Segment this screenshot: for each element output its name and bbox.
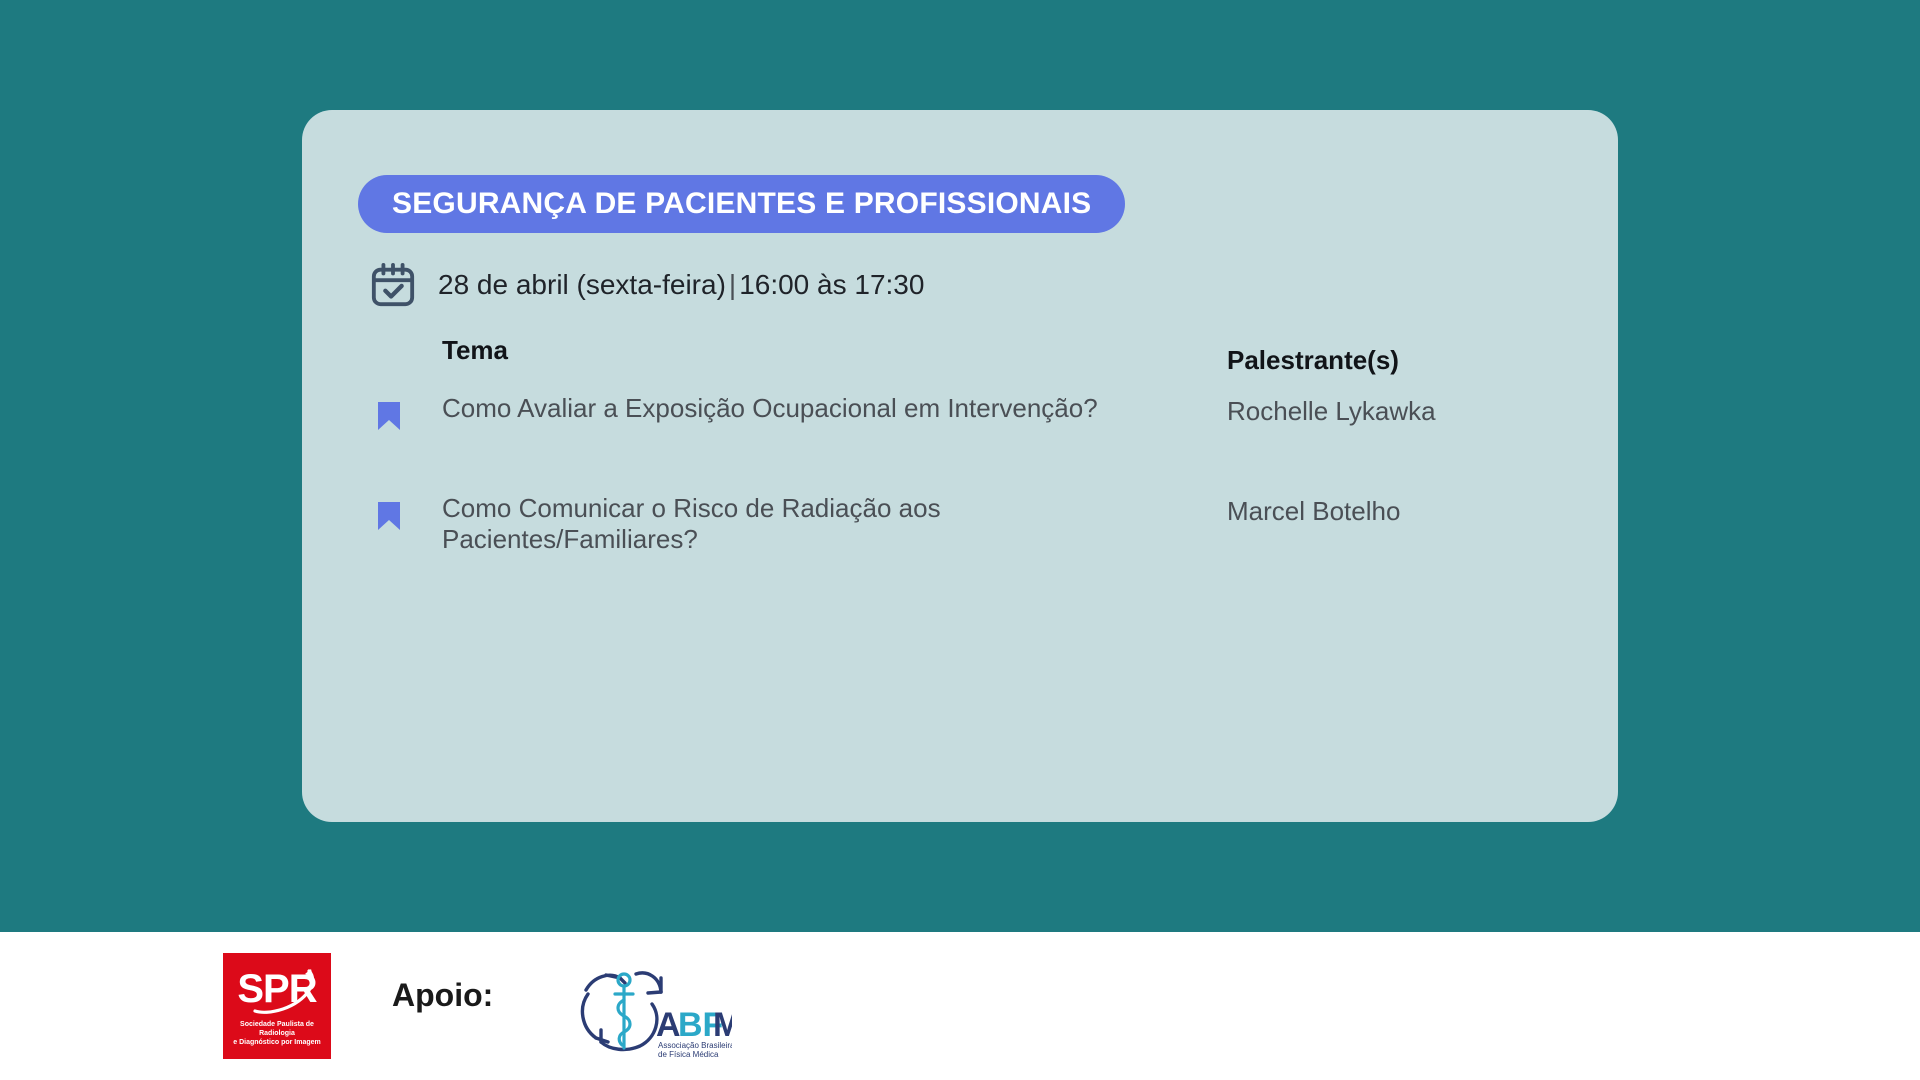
- slide-stage: SEGURANÇA DE PACIENTES E PROFISSIONAIS 2…: [0, 0, 1920, 932]
- spr-tagline-line2: e Diagnóstico por Imagem: [226, 1038, 328, 1047]
- topic-text: Como Avaliar a Exposição Ocupacional em …: [442, 393, 1122, 424]
- abfm-logo: A BF M Associação Brasileira de Física M…: [568, 956, 732, 1060]
- speaker-name: Rochelle Lykawka: [1227, 396, 1587, 427]
- footer-bar: SPR Sociedade Paulista de Radiologia e D…: [0, 932, 1920, 1080]
- bookmark-icon: [378, 402, 400, 430]
- abfm-logo-svg: A BF M Associação Brasileira de Física M…: [568, 956, 732, 1060]
- bookmark-icon-glyph: [378, 502, 400, 530]
- session-table-body: Como Avaliar a Exposição Ocupacional em …: [302, 393, 1618, 593]
- speaker-name: Marcel Botelho: [1227, 496, 1587, 527]
- spr-swoosh-icon: [227, 965, 327, 1019]
- abfm-tagline-line1: Associação Brasileira: [658, 1041, 732, 1050]
- spr-logo: SPR Sociedade Paulista de Radiologia e D…: [223, 953, 331, 1059]
- page-title: SEGURANÇA DE PACIENTES E PROFISSIONAIS: [392, 187, 1091, 221]
- table-row: Como Avaliar a Exposição Ocupacional em …: [302, 393, 1618, 493]
- session-title-banner: SEGURANÇA DE PACIENTES E PROFISSIONAIS: [358, 175, 1125, 233]
- topic-text: Como Comunicar o Risco de Radiação aos P…: [442, 493, 1122, 554]
- table-row: Como Comunicar o Risco de Radiação aos P…: [302, 493, 1618, 593]
- spr-wordmark-group: SPR: [227, 965, 327, 1019]
- session-datetime: 28 de abril (sexta-feira)|16:00 às 17:30: [438, 269, 924, 301]
- column-header-speakers: Palestrante(s): [1227, 345, 1399, 376]
- session-time: 16:00 às 17:30: [739, 269, 924, 300]
- abfm-wordmark-m: M: [713, 1006, 732, 1044]
- session-datetime-row: 28 de abril (sexta-feira)|16:00 às 17:30: [370, 262, 924, 308]
- bookmark-icon: [378, 502, 400, 530]
- abfm-tagline-line2: de Física Médica: [658, 1050, 719, 1059]
- spr-tagline-line1: Sociedade Paulista de Radiologia: [226, 1020, 328, 1038]
- column-header-topic: Tema: [442, 335, 508, 366]
- session-date: 28 de abril (sexta-feira): [438, 269, 726, 300]
- session-card: SEGURANÇA DE PACIENTES E PROFISSIONAIS 2…: [302, 110, 1618, 822]
- support-label: Apoio:: [392, 977, 493, 1014]
- spr-tagline: Sociedade Paulista de Radiologia e Diagn…: [226, 1020, 328, 1047]
- datetime-separator: |: [726, 269, 739, 300]
- calendar-check-icon: [370, 262, 416, 308]
- abfm-wordmark-a: A: [656, 1006, 681, 1044]
- caduceus-snake-icon: [615, 974, 633, 1048]
- bookmark-icon-glyph: [378, 402, 400, 430]
